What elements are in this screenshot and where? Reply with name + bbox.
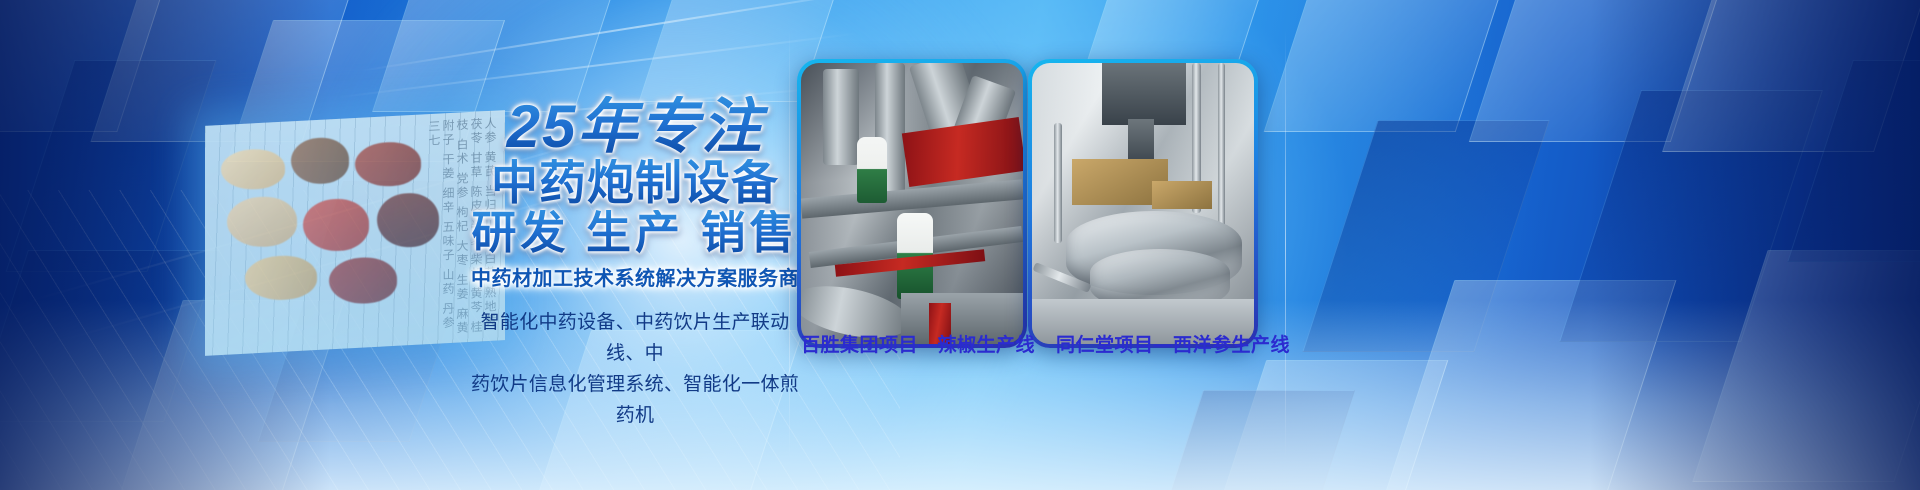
headline-line-3: 研发 生产 销售: [470, 210, 800, 256]
headline-line-2: 中药炮制设备: [470, 159, 800, 207]
photo-caption-ginseng-line: 同仁堂项目—西洋参生产线: [1056, 330, 1290, 357]
worker-figure-1: [857, 137, 887, 203]
promo-banner: 人参 黄芪 当归 川芎 白芍 熟地黄 茯苓 甘草 陈皮 半夏 柴胡 黄芩 桂枝 …: [0, 0, 1920, 490]
herbs-ancient-text-collage: 人参 黄芪 当归 川芎 白芍 熟地黄 茯苓 甘草 陈皮 半夏 柴胡 黄芩 桂枝 …: [205, 110, 505, 356]
photo-caption-chili-line: 百胜集团项目—辣椒生产线: [801, 330, 1035, 357]
chili-line-photo: [801, 63, 1023, 344]
photo-card-ginseng-line[interactable]: [1028, 59, 1258, 348]
headline-subtitle: 中药材加工技术系统解决方案服务商: [470, 262, 800, 291]
headline-line-1: 25年专注: [470, 96, 800, 157]
collage-haze-overlay: [205, 110, 505, 356]
headline-description-line-2: 药饮片信息化管理系统、智能化一体煎药机: [470, 369, 800, 431]
vertical-divider-right: [1285, 30, 1286, 460]
photo-card-chili-line[interactable]: [797, 59, 1027, 348]
headline-description-line-1: 智能化中药设备、中药饮片生产联动线、中: [470, 307, 800, 369]
ginseng-line-photo: [1032, 63, 1254, 344]
headline-block: 25年专注 中药炮制设备 研发 生产 销售 中药材加工技术系统解决方案服务商 智…: [470, 96, 800, 431]
